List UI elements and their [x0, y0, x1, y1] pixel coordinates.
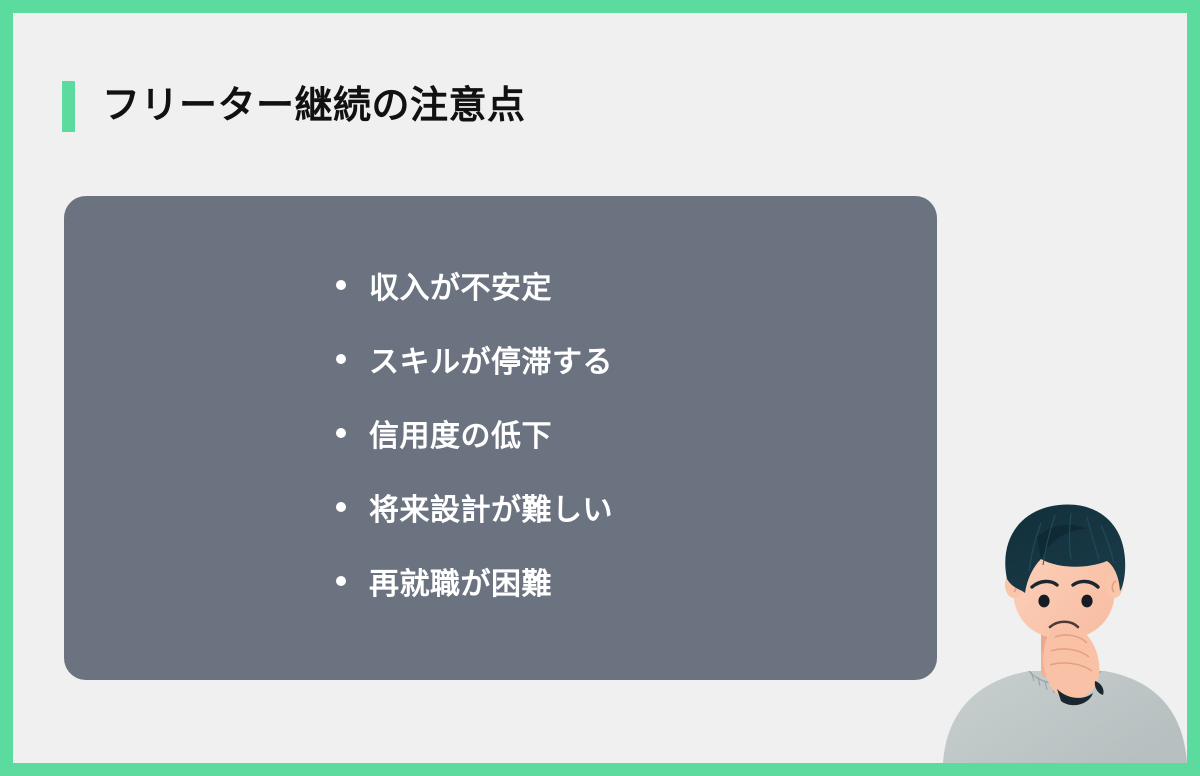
list-item: スキルが停滞する: [336, 322, 613, 396]
list-item: 信用度の低下: [336, 396, 613, 470]
face-shape: [1013, 511, 1115, 639]
sleeve-cuff: [1057, 689, 1093, 705]
neck-shape: [1041, 623, 1087, 682]
ear-left: [1005, 572, 1023, 598]
finger-line-1: [1055, 635, 1087, 643]
hair-strand-1: [1037, 525, 1087, 559]
eyebrow-right: [1073, 581, 1098, 587]
list-item: 将来設計が難しい: [336, 470, 613, 544]
caution-bullet-list: 収入が不安定 スキルが停滞する 信用度の低下 将来設計が難しい 再就職が困難: [336, 248, 613, 618]
finger-line-2: [1051, 649, 1089, 657]
hand-shape: [1043, 626, 1099, 699]
slide: フリーター継続の注意点 収入が不安定 スキルが停滞する 信用度の低下: [0, 0, 1200, 776]
thinking-man-illustration: [937, 493, 1187, 763]
list-item: 収入が不安定: [336, 248, 613, 322]
title-text: フリーター継続の注意点: [102, 87, 526, 125]
hair-shape: [1005, 505, 1125, 593]
neck-shadow: [1041, 625, 1087, 660]
bullet-dot-icon: [336, 354, 346, 364]
collar-ribbing: [1031, 672, 1096, 694]
eye-left: [1038, 595, 1049, 608]
slide-content-area: フリーター継続の注意点 収入が不安定 スキルが停滞する 信用度の低下: [13, 13, 1187, 763]
bullet-dot-icon: [336, 502, 346, 512]
notes-card: 収入が不安定 スキルが停滞する 信用度の低下 将来設計が難しい 再就職が困難: [64, 196, 937, 680]
list-item-label: スキルが停滞する: [369, 337, 613, 381]
ear-right-detail: [1112, 581, 1116, 592]
list-item-label: 将来設計が難しい: [369, 485, 613, 529]
list-item-label: 収入が不安定: [369, 263, 552, 307]
hair-strands: [1029, 513, 1114, 571]
thinking-man-svg: [937, 493, 1187, 763]
list-item: 再就職が困難: [336, 544, 613, 618]
ear-left-detail: [1012, 581, 1016, 592]
eye-right: [1081, 595, 1092, 608]
ear-right: [1105, 572, 1123, 598]
list-item-label: 信用度の低下: [369, 411, 552, 455]
finger-line-3: [1050, 663, 1092, 671]
sweater-shape: [943, 671, 1187, 763]
mouth-frown: [1050, 622, 1078, 627]
bullet-dot-icon: [336, 280, 346, 290]
bullet-dot-icon: [336, 428, 346, 438]
eyebrow-left: [1032, 581, 1057, 587]
page-title: フリーター継続の注意点: [62, 78, 526, 134]
list-item-label: 再就職が困難: [369, 559, 552, 603]
collar-line: [1029, 671, 1101, 685]
title-accent-bar: [62, 81, 75, 132]
bullet-dot-icon: [336, 576, 346, 586]
thumb-cuff: [1095, 681, 1104, 695]
